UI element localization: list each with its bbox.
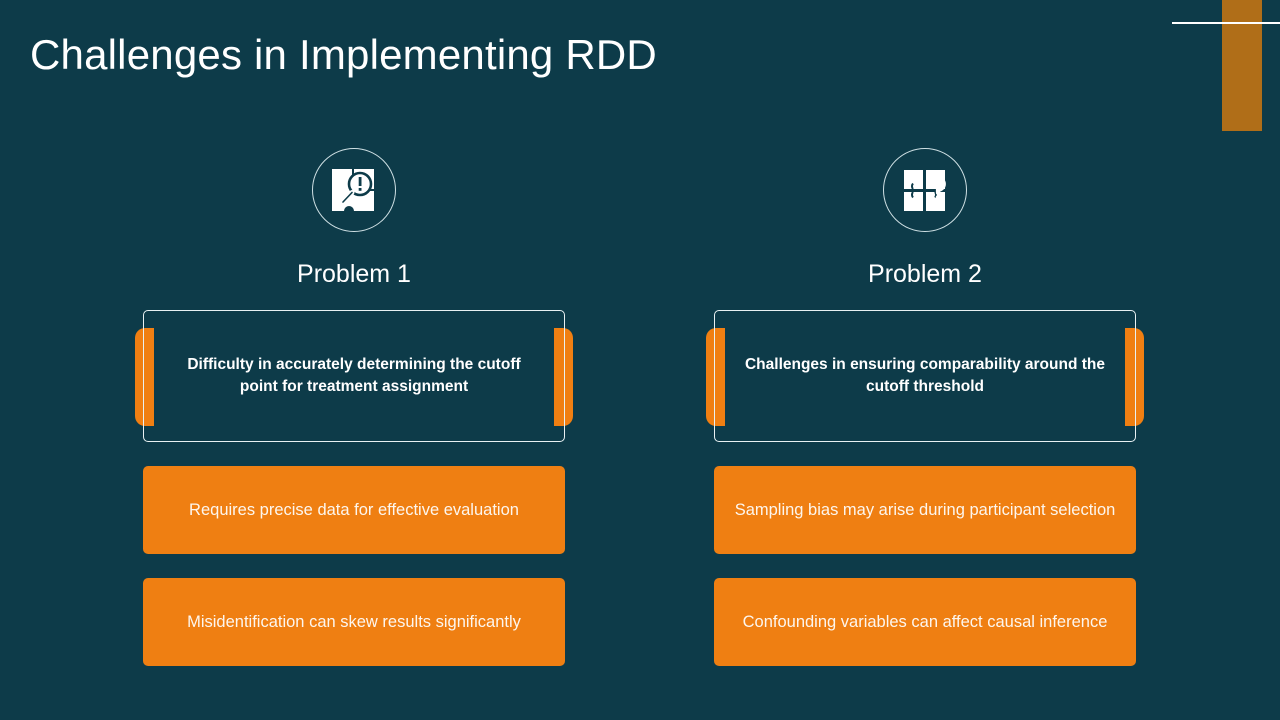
- puzzle-magnifier-alert-icon: [328, 165, 380, 215]
- bullet-text: Confounding variables can affect causal …: [743, 611, 1108, 633]
- bullet-text: Sampling bias may arise during participa…: [735, 499, 1116, 521]
- problem-label: Problem 1: [143, 259, 565, 289]
- headline-card: Challenges in ensuring comparability aro…: [714, 310, 1136, 442]
- puzzle-magnifier-alert-icon-circle: [312, 148, 396, 232]
- headline-card: Difficulty in accurately determining the…: [143, 310, 565, 442]
- puzzle-question-mark-icon-circle: [883, 148, 967, 232]
- bullet-text: Requires precise data for effective eval…: [189, 499, 519, 521]
- headline-text: Difficulty in accurately determining the…: [170, 354, 538, 398]
- card-tab-left: [706, 328, 725, 426]
- top-right-orange-bar: [1222, 0, 1262, 131]
- bullet-bar[interactable]: Confounding variables can affect causal …: [714, 578, 1136, 666]
- bullet-bar[interactable]: Misidentification can skew results signi…: [143, 578, 565, 666]
- problem-column-2: Problem 2 Challenges in ensuring compara…: [714, 148, 1136, 666]
- bullet-bar[interactable]: Sampling bias may arise during participa…: [714, 466, 1136, 554]
- card-tab-left: [135, 328, 154, 426]
- puzzle-question-mark-icon: [899, 165, 951, 215]
- card-tab-right: [1125, 328, 1144, 426]
- problem-column-1: Problem 1 Difficulty in accurately deter…: [143, 148, 565, 666]
- bullet-text: Misidentification can skew results signi…: [187, 611, 521, 633]
- page-title: Challenges in Implementing RDD: [30, 26, 657, 84]
- card-tab-right: [554, 328, 573, 426]
- problem-label: Problem 2: [714, 259, 1136, 289]
- top-right-white-rule: [1172, 22, 1280, 24]
- bullet-bar[interactable]: Requires precise data for effective eval…: [143, 466, 565, 554]
- headline-text: Challenges in ensuring comparability aro…: [741, 354, 1109, 398]
